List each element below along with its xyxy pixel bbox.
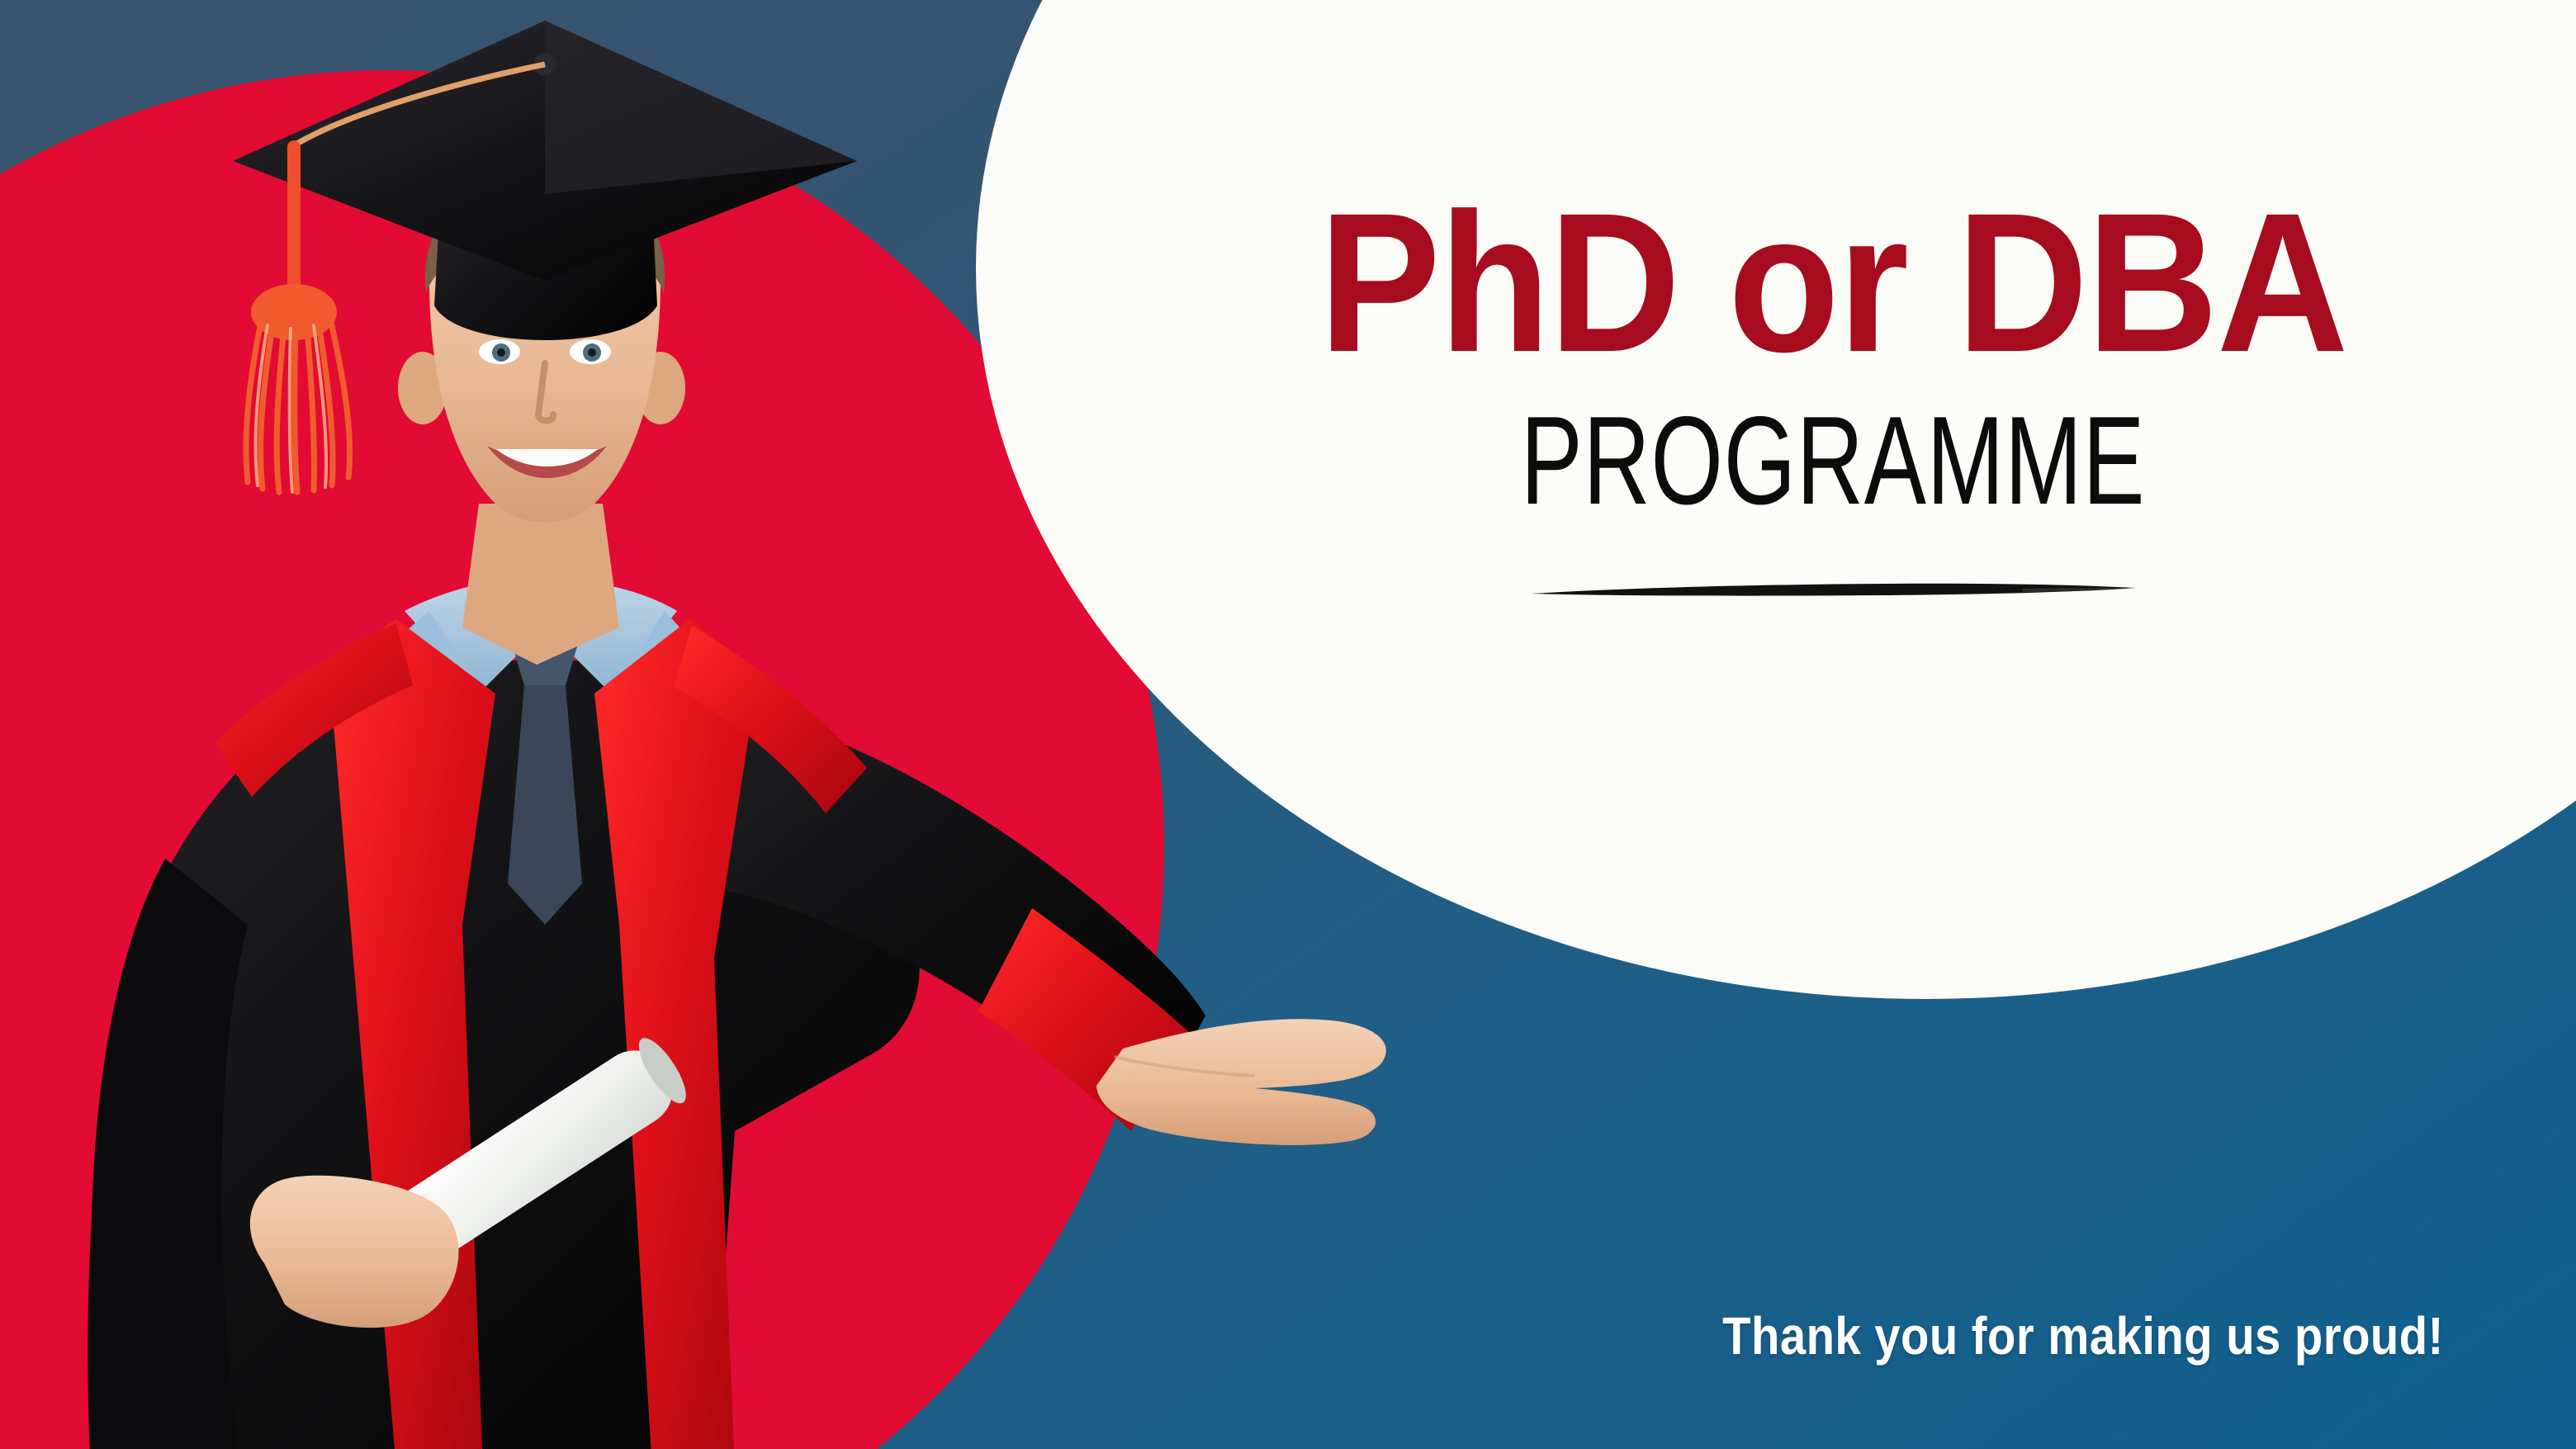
tagline-text: Thank you for making us proud! — [1722, 1305, 2444, 1366]
necktie — [508, 619, 582, 925]
headline-block: PhD or DBA PROGRAMME — [1156, 186, 2510, 599]
brush-stroke-divider — [1156, 578, 2510, 599]
graduate-student-photo — [0, 116, 1305, 1449]
poster-canvas: PhD or DBA PROGRAMME Thank you for makin… — [0, 0, 2576, 1449]
page-title: PhD or DBA — [1210, 186, 2456, 380]
page-subtitle: PROGRAMME — [1332, 398, 2334, 523]
